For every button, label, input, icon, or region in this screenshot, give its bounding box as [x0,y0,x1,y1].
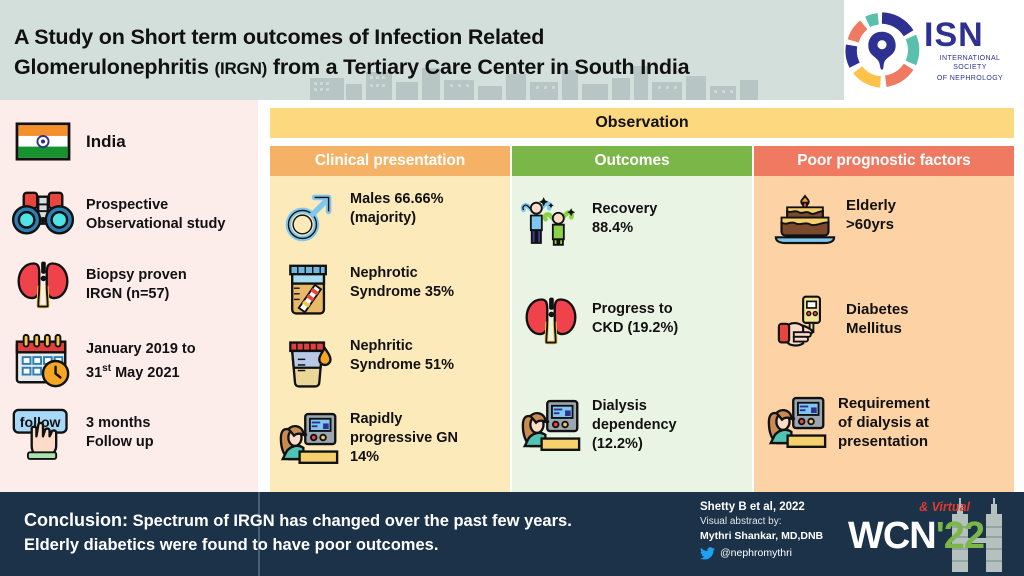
column-header-outcomes: Outcomes [512,146,752,176]
list-item: Diabetes Mellitus [772,288,909,354]
list-item-label: Nephrotic Syndrome 35% [350,258,454,302]
sidebar-date-rest: May 2021 [111,364,180,380]
list-item-label: Requirement of dialysis at presentation [838,388,930,451]
column-body-outcomes: Recovery 88.4% Progress to CKD (19.2%) [512,176,752,492]
column-body-poor-prognostic-factors: Elderly >60yrs Diabetes Mellitus [754,176,1014,492]
conclusion-text: Conclusion: Spectrum of IRGN has changed… [24,508,664,557]
list-item: Rapidly progressive GN 14% [276,404,458,470]
birthday-cake-icon [772,186,838,252]
calendar-clock-icon [10,328,76,394]
title-line-1: A Study on Short term outcomes of Infect… [14,22,834,52]
celebrating-people-icon [518,188,584,254]
isn-subtitle-2: OF NEPHROLOGY [924,74,1016,83]
sidebar-label-study-type: Prospective Observational study [86,196,225,234]
sidebar-item-followup: follow 3 months Follow up [10,400,154,466]
follow-button-icon: follow [10,400,76,466]
list-item: Males 66.66% (majority) [276,184,444,250]
title-line-2-part-c: from a Tertiary Care Center in South Ind… [267,55,689,79]
isn-subtitle-1: INTERNATIONAL SOCIETY [924,54,1016,72]
wcn-wordmark: WCN'22 [848,516,984,556]
title-irgn-abbrev: (IRGN) [214,59,267,78]
isn-wordmark: ISN INTERNATIONAL SOCIETY OF NEPHROLOGY [924,18,1016,83]
dialysis-patient-icon [276,404,342,470]
wcn-name: WCN [848,515,936,557]
sidebar-item-study-type: Prospective Observational study [10,182,225,248]
sidebar-item-dates: January 2019 to 31st May 2021 [10,328,196,394]
author-text: Mythri Shankar, MD,DNB [700,529,868,544]
column-body-clinical-presentation: Males 66.66% (majority) [270,176,510,492]
urine-cup-blood-icon [276,331,342,397]
list-item-label: Diabetes Mellitus [846,288,909,338]
credits-block: Shetty B et al, 2022 Visual abstract by:… [700,500,868,561]
list-item: Elderly >60yrs [772,186,896,252]
sidebar-date-ordinal: st [102,363,111,374]
observation-banner: Observation [270,108,1014,138]
citation-text: Shetty B et al, 2022 [700,500,868,515]
conclusion-lead: Conclusion: [24,510,128,530]
sidebar-label-biopsy: Biopsy proven IRGN (n=57) [86,266,187,304]
isn-name: ISN [924,18,1016,52]
wcn-logo: & Virtual WCN'22 [848,498,1018,572]
isn-ring-icon [844,12,920,88]
study-metadata-sidebar: India Prospective Observational study [0,100,258,492]
observation-title: Observation [595,114,688,132]
list-item: Nephrotic Syndrome 35% [276,258,454,324]
sidebar-label-followup: 3 months Follow up [86,414,154,452]
byline-text: Visual abstract by: [700,515,868,529]
list-item: Recovery 88.4% [518,188,657,254]
twitter-handle-row[interactable]: @nephromythri [700,545,868,561]
sidebar-label-dates: January 2019 to 31st May 2021 [86,340,196,383]
column-header-poor-prognostic-factors: Poor prognostic factors [754,146,1014,176]
kidneys-icon [10,252,76,318]
urine-sample-jar-icon [276,258,342,324]
list-item-label: Males 66.66% (majority) [350,184,444,228]
list-item: Dialysis dependency (12.2%) [518,391,677,457]
male-symbol-icon [276,184,342,250]
twitter-icon [700,547,715,560]
page-title: A Study on Short term outcomes of Infect… [14,22,834,84]
glucometer-icon [772,288,838,354]
list-item-label: Nephritic Syndrome 51% [350,331,454,375]
isn-logo: ISN INTERNATIONAL SOCIETY OF NEPHROLOGY [844,10,1016,90]
wcn-year: '22 [936,515,984,557]
binoculars-icon [10,182,76,248]
poster-header: A Study on Short term outcomes of Infect… [0,0,1024,100]
dialysis-patient-icon [764,388,830,454]
list-item: Requirement of dialysis at presentation [764,388,930,454]
column-header-label-1: Outcomes [595,152,670,170]
column-header-label-2: Poor prognostic factors [797,152,970,170]
list-item: Nephritic Syndrome 51% [276,331,454,397]
wcn-virtual-label: & Virtual [919,500,970,514]
list-item-label: Recovery 88.4% [592,188,657,238]
twitter-handle-text: @nephromythri [720,545,792,561]
list-item-label: Rapidly progressive GN 14% [350,404,458,467]
kidneys-icon [518,288,584,354]
sidebar-item-biopsy: Biopsy proven IRGN (n=57) [10,252,187,318]
sidebar-label-country: India [86,132,126,151]
title-line-2-part-a: Glomerulonephritis [14,55,214,79]
column-header-label-0: Clinical presentation [315,152,465,170]
visual-abstract-poster: A Study on Short term outcomes of Infect… [0,0,1024,576]
list-item-label: Progress to CKD (19.2%) [592,288,678,338]
title-line-2: Glomerulonephritis (IRGN) from a Tertiar… [14,52,834,84]
list-item: Progress to CKD (19.2%) [518,288,678,354]
list-item-label: Elderly >60yrs [846,186,896,234]
sidebar-date-day: 31 [86,364,102,380]
list-item-label: Dialysis dependency (12.2%) [592,391,677,454]
sidebar-item-country: India [10,108,126,174]
india-flag-icon [10,108,76,174]
column-header-clinical-presentation: Clinical presentation [270,146,510,176]
sidebar-date-line-1: January 2019 to [86,341,196,357]
dialysis-patient-icon [518,391,584,457]
